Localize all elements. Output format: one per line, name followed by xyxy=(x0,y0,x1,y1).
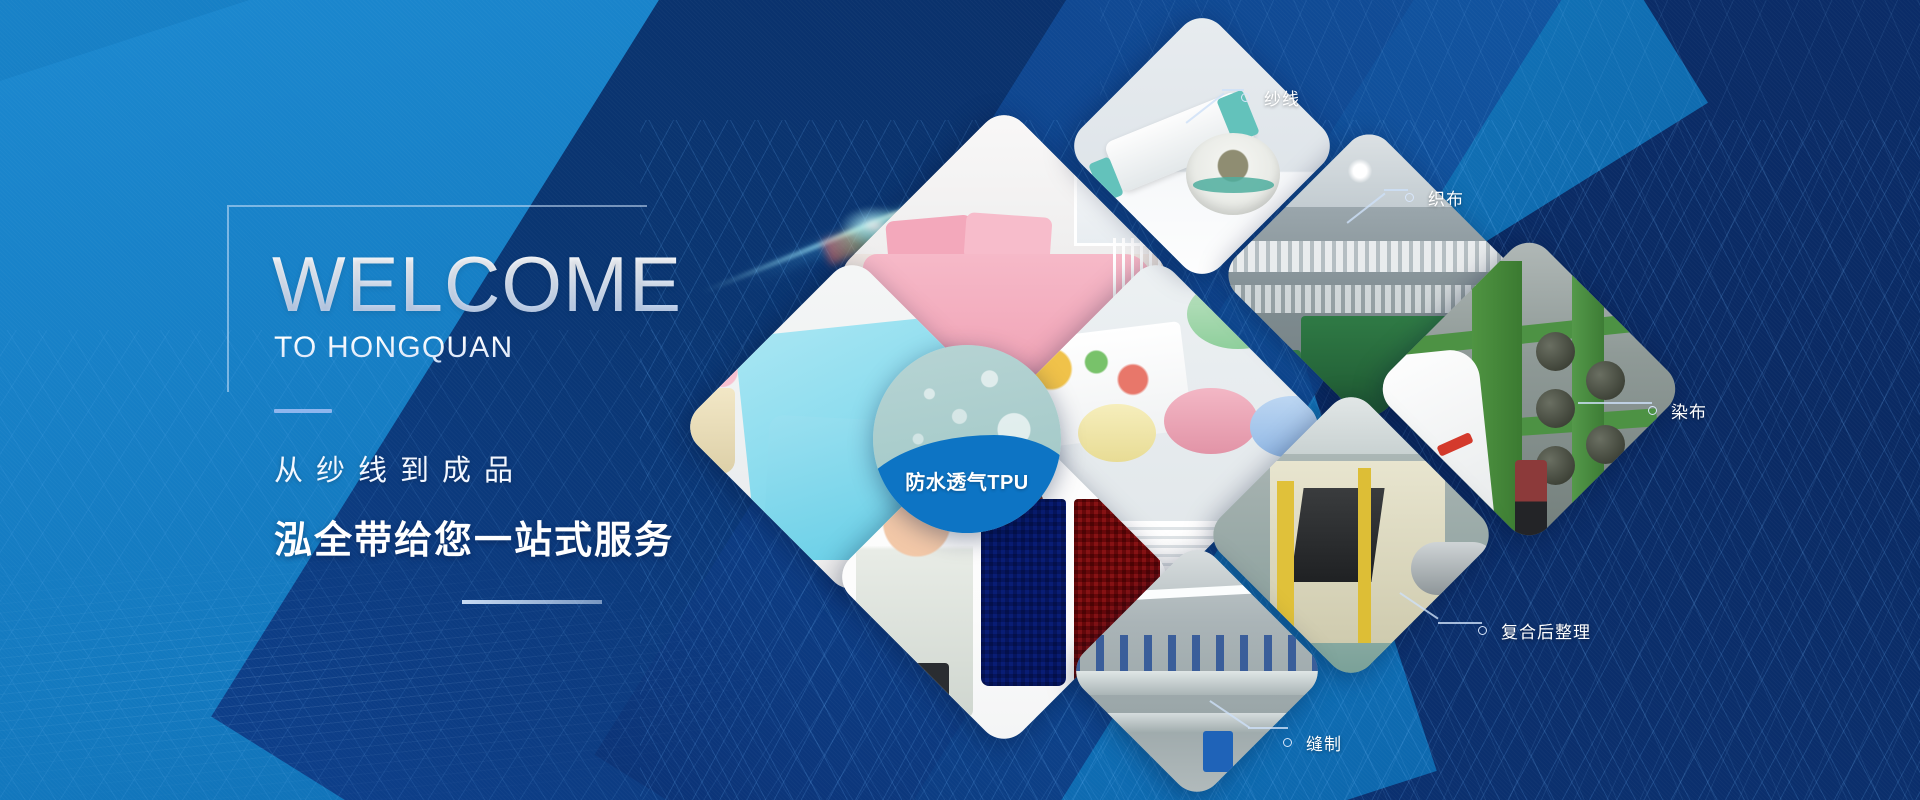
callout-dyeing[interactable]: 染布 xyxy=(1648,398,1707,423)
tpu-badge-label: 防水透气TPU xyxy=(873,466,1061,495)
callout-yarn[interactable]: 纱线 xyxy=(1241,85,1300,110)
callout-dot-icon xyxy=(1478,626,1487,635)
callout-dot-icon xyxy=(1283,738,1292,747)
callout-label-sewing: 缝制 xyxy=(1306,730,1342,755)
callout-label-finishing: 复合后整理 xyxy=(1501,618,1591,643)
connector-stem-sewing xyxy=(1248,727,1288,729)
callout-label-dyeing: 染布 xyxy=(1671,398,1707,423)
headline-cn: 泓全带给您一站式服务 xyxy=(274,509,848,564)
callout-dot-icon xyxy=(1405,193,1414,202)
callout-label-weaving: 织布 xyxy=(1428,185,1464,210)
hero-banner: WELCOME TO HONGQUAN 从纱线到成品 泓全带给您一站式服务 xyxy=(0,0,1920,800)
connector-stem-dyeing xyxy=(1578,402,1652,404)
callout-dot-icon xyxy=(1648,406,1657,415)
connector-stem-finishing xyxy=(1438,622,1482,624)
callout-dot-icon xyxy=(1241,93,1250,102)
page-title: WELCOME xyxy=(272,205,848,323)
callout-finishing[interactable]: 复合后整理 xyxy=(1478,618,1591,643)
tpu-badge[interactable]: 防水透气TPU xyxy=(873,345,1061,533)
callout-label-yarn: 纱线 xyxy=(1264,85,1300,110)
bottom-rule-decoration xyxy=(462,600,602,604)
callout-sewing[interactable]: 缝制 xyxy=(1283,730,1342,755)
divider-dash xyxy=(274,409,332,413)
callout-weaving[interactable]: 织布 xyxy=(1405,185,1464,210)
